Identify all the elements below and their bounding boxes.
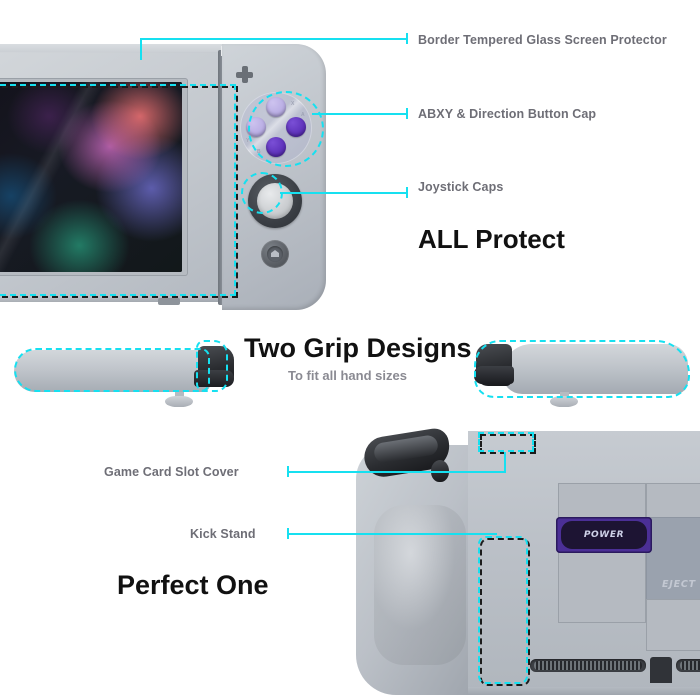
back-left-grip <box>356 445 474 695</box>
highlight-kickstand <box>478 536 528 684</box>
highlight-grip-left <box>14 348 210 392</box>
callout-abxy-cap: ABXY & Direction Button Cap <box>418 107 596 121</box>
subtitle-hand-sizes: To fit all hand sizes <box>288 368 407 383</box>
leader-card-slot-v <box>504 452 506 472</box>
eject-label: EJECT <box>662 579 696 590</box>
plus-button-icon[interactable] <box>236 66 253 83</box>
stand-nub <box>650 657 672 683</box>
leader-card-slot-h <box>287 471 506 473</box>
snes-panel-mid-top <box>646 483 700 521</box>
callout-screen-protector: Border Tempered Glass Screen Protector <box>418 33 667 47</box>
leader-abxy <box>312 113 406 115</box>
vent-grille-left <box>530 659 646 672</box>
leader-screen-protector-h <box>140 38 406 40</box>
highlight-grip-left-trigger <box>196 340 228 392</box>
power-button-label: POWER <box>556 517 652 553</box>
headline-all-protect: ALL Protect <box>418 224 565 255</box>
leader-joystick <box>280 192 406 194</box>
leader-kickstand-h <box>287 533 497 535</box>
infographic-canvas: X A Y B Border Tempered Glass Screen Pro… <box>0 0 700 700</box>
leader-cap-joystick <box>406 187 408 198</box>
callout-game-card-slot: Game Card Slot Cover <box>104 465 239 479</box>
power-button[interactable]: POWER <box>556 517 652 553</box>
leader-cap-kickstand <box>287 528 289 539</box>
highlight-game-card-slot <box>478 432 534 452</box>
back-bottom-lip <box>468 687 700 695</box>
callout-kick-stand: Kick Stand <box>190 527 256 541</box>
leader-screen-protector-v <box>140 38 142 60</box>
highlight-grip-right <box>474 340 690 398</box>
leader-cap-screen-protector <box>406 33 408 44</box>
highlight-joystick-cap <box>241 172 283 214</box>
console-bottom-foot <box>158 298 180 305</box>
snes-panel-mid-bottom <box>646 599 700 651</box>
home-button[interactable] <box>261 240 289 268</box>
highlight-abxy-caps <box>248 91 324 167</box>
vent-grille-right <box>676 659 700 672</box>
leader-cap-abxy <box>406 108 408 119</box>
headline-two-grip: Two Grip Designs <box>244 333 472 364</box>
leader-cap-card-slot <box>287 466 289 477</box>
callout-joystick-caps: Joystick Caps <box>418 180 503 194</box>
snes-panel-left <box>558 483 646 623</box>
grip-left-peg <box>165 396 193 407</box>
headline-perfect-one: Perfect One <box>117 570 269 601</box>
back-left-grip-shading <box>374 505 466 665</box>
highlight-screen-protector <box>0 84 236 296</box>
